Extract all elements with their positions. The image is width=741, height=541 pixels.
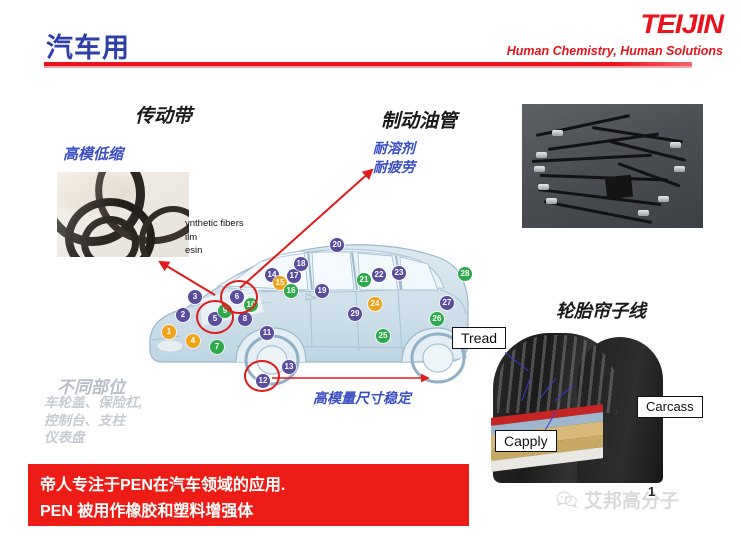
page-number: 1: [648, 484, 655, 499]
car-marker-13: 13: [282, 360, 296, 374]
hose-fitting: [670, 142, 681, 148]
car-marker-2: 2: [176, 308, 190, 322]
car-marker-27: 27: [440, 296, 454, 310]
slide-canvas: 汽车用 TEIJIN Human Chemistry, Human Soluti…: [0, 0, 741, 541]
label-tread: Tread: [452, 327, 506, 349]
parts-line-1: 车轮盖、保险杠,: [44, 394, 142, 412]
highlight-marker-12: [244, 360, 280, 392]
banner-line-1: 帝人专注于PEN在汽车领域的应用.: [40, 471, 285, 495]
header-rule-light: [44, 66, 692, 68]
car-marker-4: 4: [186, 334, 200, 348]
hose-fitting: [674, 166, 685, 172]
car-marker-3: 3: [188, 290, 202, 304]
hose-fitting: [536, 152, 547, 158]
car-marker-25: 25: [376, 329, 390, 343]
hose-strand: [536, 114, 631, 137]
car-marker-28: 28: [458, 267, 472, 281]
teijin-logo: TEIJIN: [640, 9, 723, 40]
hose-fitting: [538, 184, 549, 190]
hose-subtitle: 耐溶剂 耐疲劳: [373, 139, 415, 177]
car-marker-22: 22: [372, 268, 386, 282]
hose-fitting: [546, 198, 557, 204]
parts-line-2: 控制台、支柱: [44, 412, 142, 430]
car-marker-1: 1: [162, 325, 176, 339]
label-carcass: Carcass: [637, 396, 703, 418]
belt-heading: 传动带: [135, 101, 192, 128]
hose-fitting: [552, 130, 563, 136]
parts-line-3: 仪表盘: [44, 429, 142, 447]
hose-connector-block: [605, 175, 633, 200]
hose-strand: [544, 200, 653, 224]
watermark-text: 艾邦高分子: [584, 486, 679, 513]
car-marker-18: 18: [294, 257, 308, 271]
watermark: 艾邦高分子: [556, 486, 679, 513]
highlight-marker-5: [196, 300, 234, 334]
page-title: 汽车用: [46, 26, 130, 65]
car-marker-16: 16: [284, 284, 298, 298]
hose-fitting: [638, 210, 649, 216]
summary-banner: 帝人专注于PEN在汽车领域的应用. PEN 被用作橡胶和塑料增强体: [28, 464, 469, 526]
hose-heading: 制动油管: [381, 106, 457, 133]
wechat-icon: [556, 491, 578, 508]
hose-subtitle-line2: 耐疲劳: [373, 158, 415, 177]
car-marker-26: 26: [430, 312, 444, 326]
car-marker-19: 19: [315, 284, 329, 298]
car-marker-20: 20: [330, 238, 344, 252]
car-marker-29: 29: [348, 307, 362, 321]
brake-hose-photo: [522, 104, 703, 228]
car-marker-7: 7: [210, 340, 224, 354]
car-marker-17: 17: [287, 269, 301, 283]
label-capply: Capply: [495, 430, 557, 452]
hose-strand: [532, 154, 652, 163]
car-marker-23: 23: [392, 266, 406, 280]
parts-list: 车轮盖、保险杠, 控制台、支柱 仪表盘: [44, 394, 142, 447]
teijin-tagline: Human Chemistry, Human Solutions: [507, 44, 723, 58]
hose-fitting: [658, 196, 669, 202]
car-marker-24: 24: [368, 297, 382, 311]
dimension-caption: 高模量尺寸稳定: [313, 388, 411, 408]
hose-fitting: [534, 166, 545, 172]
car-marker-11: 11: [260, 326, 274, 340]
car-marker-8: 8: [238, 312, 252, 326]
banner-line-2: PEN 被用作橡胶和塑料增强体: [40, 497, 253, 521]
belt-subtitle: 高模低缩: [63, 143, 123, 164]
hose-subtitle-line1: 耐溶剂: [373, 139, 415, 158]
car-marker-21: 21: [357, 273, 371, 287]
tire-heading: 轮胎帘子线: [556, 297, 646, 323]
